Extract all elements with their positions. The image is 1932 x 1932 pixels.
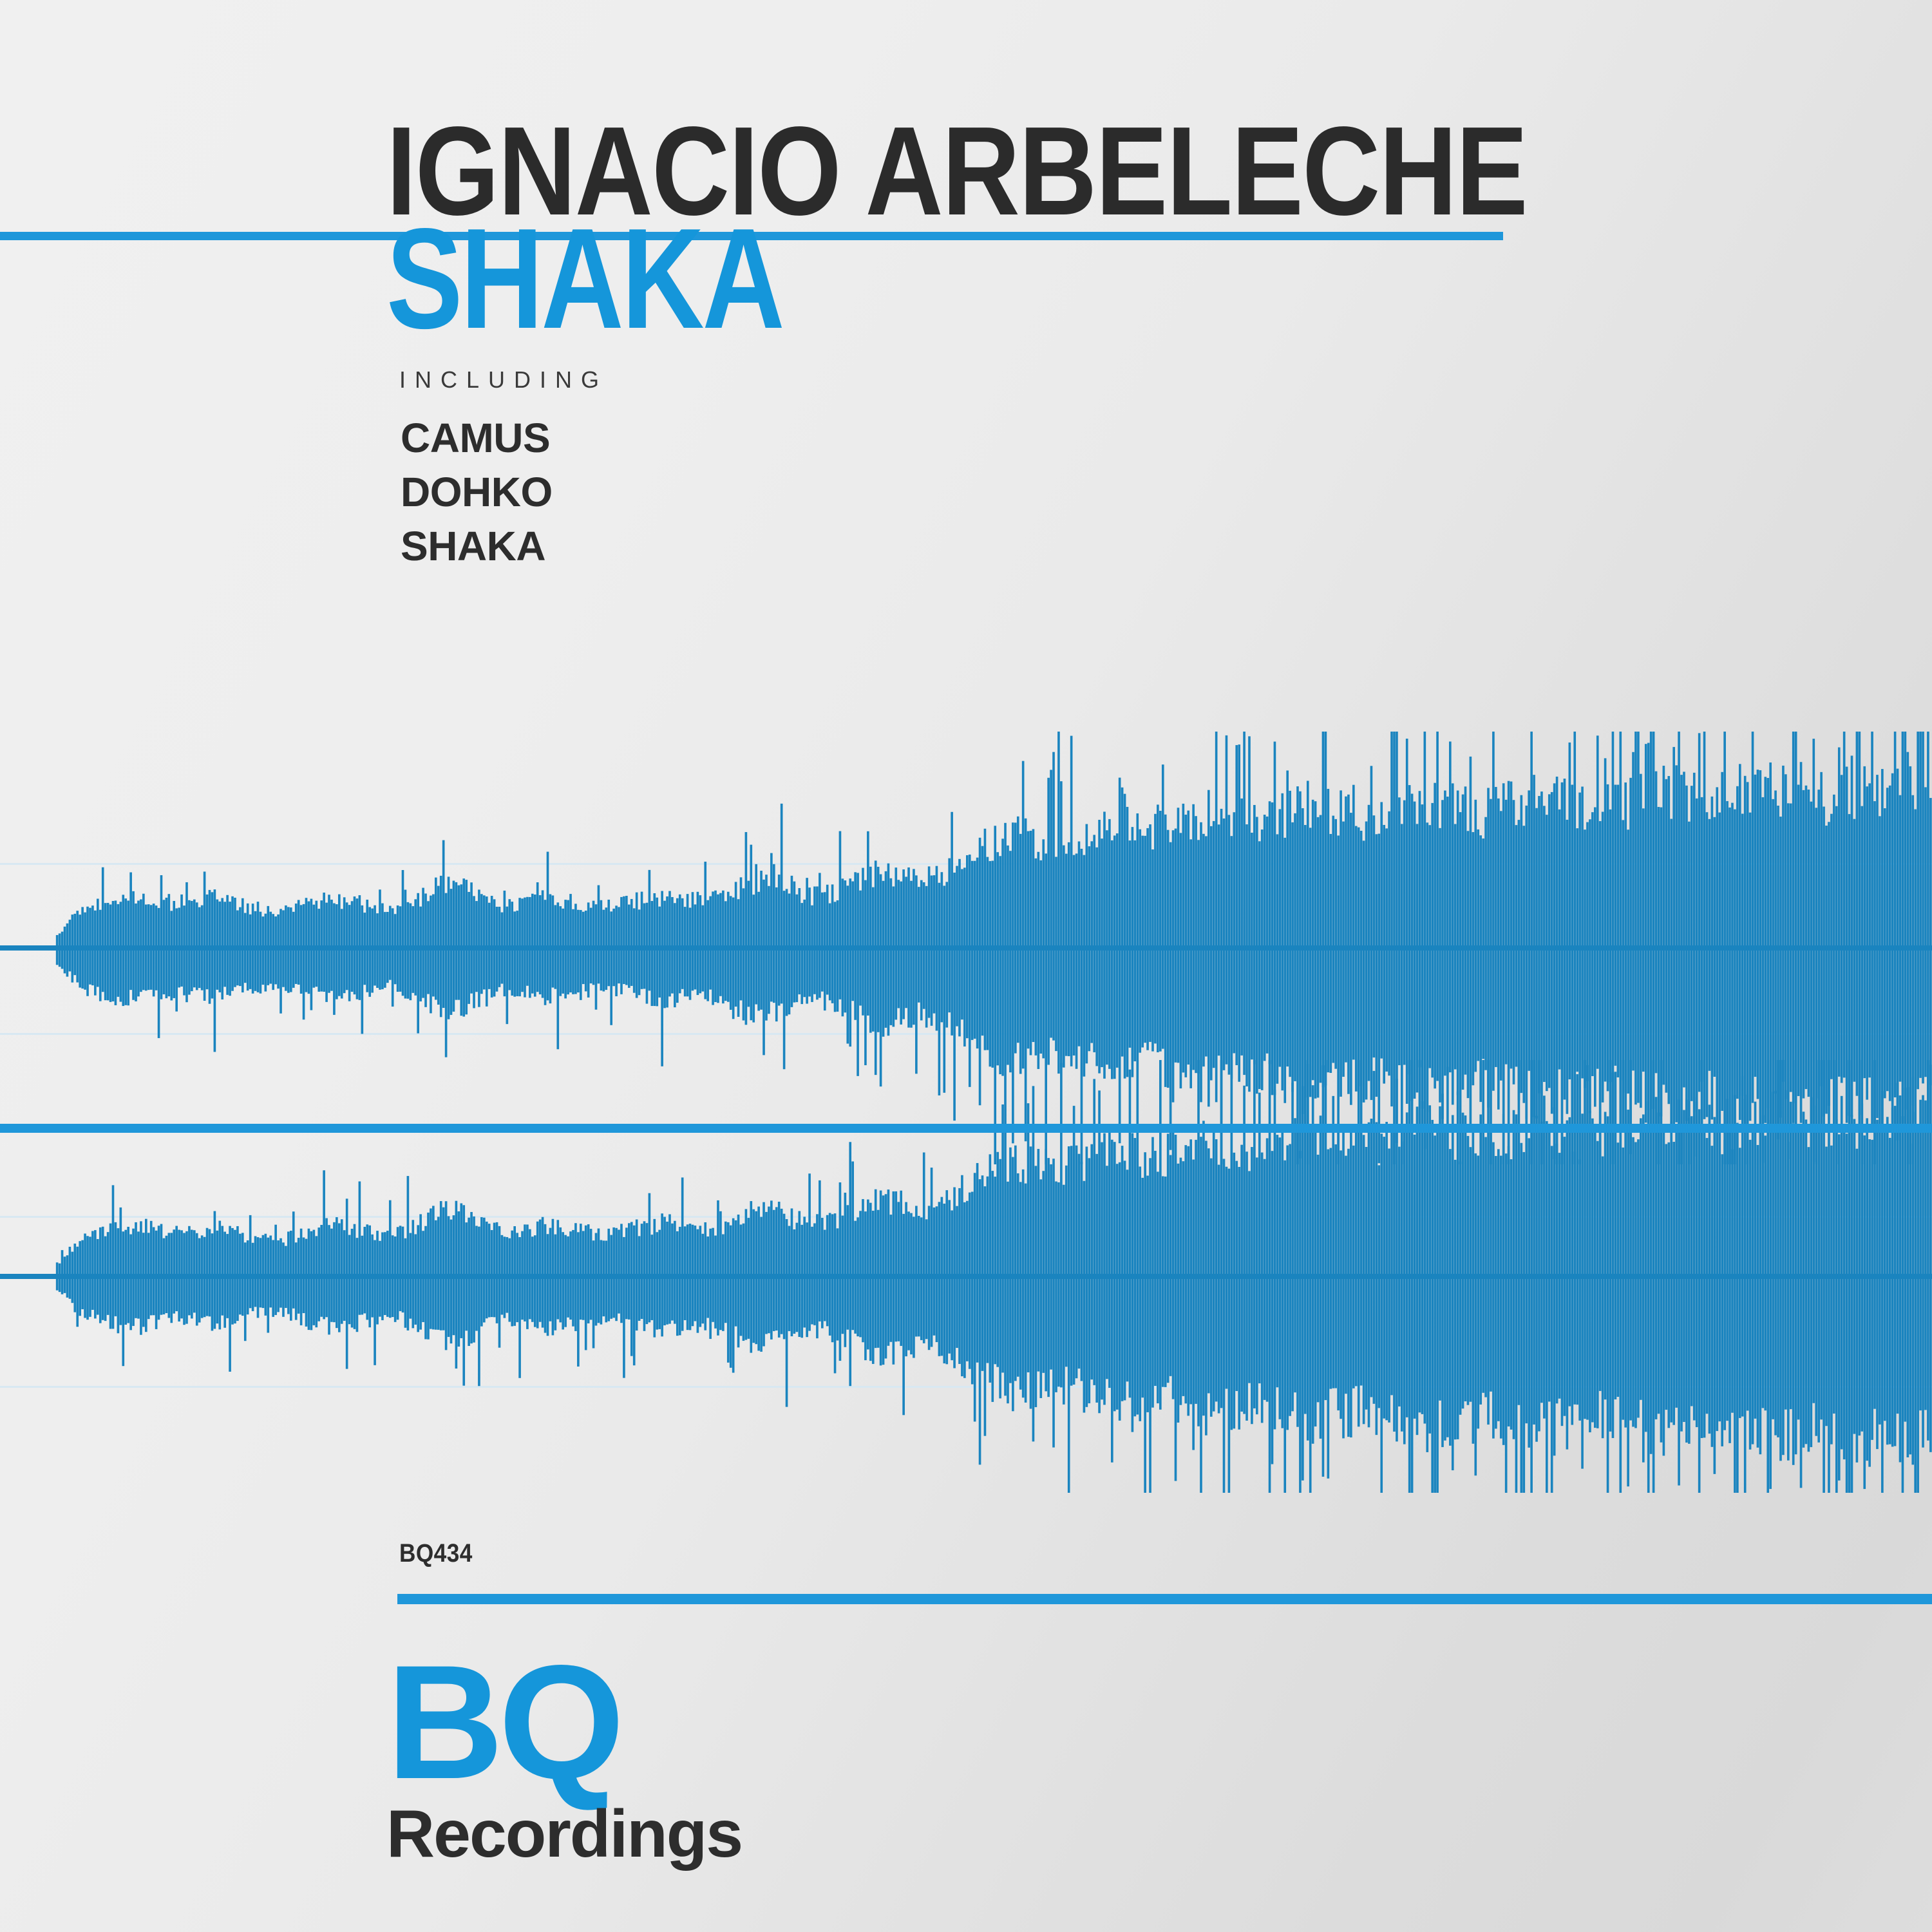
waveform-bar: [516, 911, 518, 996]
waveform-bar: [1218, 1165, 1220, 1414]
waveform-bar: [155, 1231, 158, 1329]
waveform-bar: [732, 1218, 735, 1373]
waveform-bar: [574, 904, 577, 994]
waveform-bar: [638, 1236, 641, 1321]
waveform-bar: [1604, 758, 1607, 1081]
waveform-bar: [511, 902, 513, 996]
waveform-bar: [1027, 1103, 1030, 1372]
waveform-bar: [374, 1240, 376, 1365]
waveform-bar: [1342, 1124, 1345, 1438]
waveform-bar: [153, 904, 155, 996]
waveform-bar: [1670, 819, 1672, 1127]
waveform-bar: [1929, 1065, 1932, 1452]
waveform-bar: [1154, 1151, 1157, 1386]
waveform-bar: [325, 903, 328, 1002]
waveform-bar: [895, 867, 897, 1019]
waveform-bar: [1866, 1118, 1868, 1461]
waveform-bar: [961, 869, 963, 1019]
waveform-bar: [996, 1152, 999, 1367]
waveform-bar: [928, 1206, 931, 1350]
waveform-bar: [1510, 1159, 1513, 1430]
waveform-bar: [86, 907, 89, 996]
waveform-bar: [260, 912, 262, 994]
waveform-bar: [1540, 1122, 1543, 1403]
waveform-bar: [265, 914, 267, 992]
waveform-bar: [1119, 1162, 1121, 1421]
waveform-bar: [1218, 824, 1220, 1056]
waveform-bar: [559, 1227, 562, 1322]
waveform-bar: [1513, 1110, 1515, 1439]
waveform-bar: [732, 898, 735, 1019]
waveform-bar: [363, 913, 366, 985]
waveform-bar: [374, 905, 376, 986]
waveform-bar: [1334, 819, 1337, 1069]
waveform-bar: [435, 1220, 437, 1330]
waveform-bar: [1378, 834, 1380, 1164]
waveform-bar: [368, 1226, 371, 1327]
waveform-bar: [1723, 1140, 1726, 1430]
waveform-bar: [69, 1247, 71, 1299]
waveform-bar: [191, 901, 193, 991]
waveform-bar: [480, 1217, 483, 1327]
waveform-bar: [1421, 1101, 1424, 1414]
waveform-bar: [603, 910, 605, 992]
waveform-bar: [1001, 838, 1004, 1075]
waveform-bar: [1154, 814, 1157, 1044]
waveform-bar: [844, 880, 847, 1012]
waveform-bar: [511, 1231, 513, 1327]
waveform-bar: [562, 909, 564, 994]
waveform-bar: [483, 1218, 486, 1323]
waveform-bar: [1444, 1127, 1446, 1441]
waveform-bar: [1403, 800, 1406, 1065]
waveform-bar: [529, 1229, 531, 1320]
waveform-bar: [129, 1235, 132, 1331]
waveform-bar: [1329, 1148, 1332, 1389]
waveform-bar: [419, 1214, 422, 1329]
waveform-bar: [1162, 764, 1164, 1048]
waveform-bar: [508, 1238, 511, 1322]
waveform-bar: [351, 1229, 354, 1327]
track-list: CAMUS DOHKO SHAKA: [401, 411, 553, 573]
waveform-bar: [564, 900, 567, 998]
bottom-rule-divider: [397, 1594, 1932, 1604]
waveform-bar: [567, 900, 569, 995]
waveform-bar: [948, 858, 951, 1012]
waveform-bar: [1873, 1060, 1876, 1409]
waveform-bar: [115, 1222, 117, 1316]
waveform-bar: [1833, 1060, 1835, 1414]
waveform-bar: [1810, 802, 1813, 1125]
waveform-bar: [1334, 1144, 1337, 1388]
waveform-bar: [104, 1236, 107, 1321]
waveform-bar: [328, 895, 330, 992]
waveform-bar: [1714, 1117, 1716, 1473]
waveform-bar: [1243, 1086, 1245, 1414]
waveform-bar: [1800, 762, 1803, 1122]
waveform-bar: [1522, 1152, 1525, 1493]
waveform-bar: [651, 901, 654, 1006]
waveform-bar: [679, 895, 681, 994]
waveform-bar: [842, 878, 844, 1016]
waveform-bar: [1785, 774, 1787, 1099]
waveform-bar: [1693, 773, 1696, 1112]
waveform-bar: [419, 907, 422, 1001]
waveform-bar: [1589, 1111, 1591, 1432]
waveform-bar: [979, 1179, 981, 1464]
catalog-number: BQ434: [399, 1540, 473, 1566]
waveform-bar: [1820, 1060, 1823, 1419]
waveform-bar: [1594, 1124, 1596, 1428]
waveform-bar: [1615, 785, 1617, 1066]
waveform-bar: [1441, 800, 1444, 1119]
waveform-bar: [895, 1191, 897, 1341]
waveform-bar: [806, 878, 808, 1003]
waveform-bar: [1723, 732, 1726, 1164]
waveform-bar: [69, 920, 71, 971]
waveform-bar: [1853, 819, 1856, 1082]
waveform-bar: [218, 1221, 221, 1330]
waveform-bar: [628, 905, 630, 988]
waveform-bar: [150, 905, 153, 990]
waveform-bar: [1032, 829, 1035, 1042]
waveform-bar: [1558, 810, 1561, 1070]
waveform-bar: [1650, 732, 1653, 1109]
waveform-bar: [646, 1223, 649, 1324]
waveform-bar: [943, 1204, 945, 1363]
waveform-bar: [907, 867, 910, 1028]
waveform-bar: [313, 905, 316, 988]
waveform-bar: [699, 895, 702, 993]
waveform-bar: [1462, 795, 1464, 1090]
waveform-bar: [191, 1230, 193, 1319]
waveform-bar: [600, 900, 603, 990]
waveform-bar: [1640, 774, 1642, 1108]
waveform-bar: [465, 880, 468, 1014]
waveform-bar: [97, 899, 99, 987]
waveform-bar: [1457, 1092, 1459, 1439]
waveform-bar: [448, 1216, 450, 1337]
waveform-bar: [1881, 769, 1884, 1124]
waveform-bar: [1596, 735, 1599, 1068]
waveform-bar: [1340, 1150, 1342, 1419]
waveform-bar: [724, 901, 727, 1001]
waveform-bar: [1022, 761, 1025, 1069]
waveform-bar: [663, 1217, 666, 1326]
waveform-bar: [1042, 839, 1045, 1058]
waveform-bar: [740, 1224, 743, 1336]
waveform-bar: [239, 1234, 241, 1315]
waveform-bar: [1522, 826, 1525, 1103]
waveform-bar: [414, 1234, 417, 1324]
waveform-bar: [1647, 743, 1650, 1110]
waveform-bar: [491, 896, 493, 998]
waveform-bar: [722, 891, 724, 1003]
waveform-bar: [1787, 803, 1790, 1159]
waveform-bar: [900, 882, 902, 1025]
waveform-bar: [422, 1231, 424, 1322]
waveform-bar: [107, 903, 109, 1000]
waveform-bar: [757, 1207, 760, 1351]
waveform-bar: [201, 905, 204, 990]
waveform-bar: [305, 898, 308, 992]
waveform-bar: [1782, 766, 1785, 1082]
waveform-bar: [1167, 1133, 1170, 1383]
waveform-bar: [549, 1228, 552, 1321]
waveform-bar: [361, 1236, 364, 1315]
waveform-bar: [722, 1235, 724, 1331]
waveform-bar: [223, 902, 226, 987]
waveform-bar: [132, 891, 135, 1000]
waveform-bar: [241, 898, 244, 992]
waveform-bar: [1907, 1087, 1909, 1457]
waveform-bar: [674, 1221, 676, 1324]
waveform-bar: [1101, 838, 1103, 1067]
waveform-bar: [135, 904, 137, 1001]
waveform-bar: [1414, 1135, 1416, 1419]
waveform-bar: [1345, 797, 1347, 1063]
waveform-bar: [885, 871, 887, 1028]
waveform-bar: [999, 1159, 1001, 1399]
waveform-bar: [872, 887, 875, 1032]
waveform-bar: [1830, 1146, 1833, 1444]
waveform-bar: [663, 901, 666, 1009]
waveform-bar: [145, 905, 147, 991]
waveform-bar: [1340, 790, 1342, 1097]
waveform-bar: [902, 1214, 905, 1415]
waveform-bar: [1914, 1112, 1917, 1493]
waveform-bar: [475, 1226, 478, 1331]
waveform-bar: [1358, 828, 1360, 1092]
waveform-bar: [737, 1215, 740, 1347]
waveform-bar: [1070, 736, 1073, 1066]
waveform-bar: [1861, 1103, 1863, 1431]
waveform-bar: [918, 1216, 920, 1336]
waveform-bar: [1825, 1147, 1828, 1426]
waveform-bar: [875, 860, 877, 1075]
waveform-bar: [1271, 802, 1274, 1095]
waveform-bar: [1264, 815, 1266, 1061]
waveform-bar: [336, 904, 338, 999]
waveform-bar: [851, 1161, 854, 1330]
waveform-bar: [166, 898, 168, 998]
waveform-bar: [1162, 1176, 1164, 1387]
waveform-bar: [854, 872, 857, 1019]
waveform-bar: [1296, 786, 1299, 1164]
waveform-bar: [470, 882, 473, 993]
waveform-bar: [633, 908, 636, 992]
waveform-bar: [743, 1224, 745, 1341]
waveform-bar: [384, 912, 386, 988]
waveform-bar: [1645, 1125, 1647, 1432]
waveform-bar: [1868, 783, 1871, 1077]
waveform-bar: [709, 1229, 712, 1339]
waveform-bar: [1116, 833, 1119, 1068]
waveform-bar: [605, 1241, 607, 1323]
waveform-bar: [931, 875, 933, 1025]
waveform-bar: [1124, 1160, 1126, 1400]
waveform-bar: [397, 1227, 399, 1320]
waveform-bar: [1604, 1112, 1607, 1399]
waveform-bar: [831, 1214, 834, 1342]
waveform-bar: [1701, 1060, 1703, 1438]
waveform-bar: [1680, 775, 1683, 1164]
waveform-bar: [127, 1227, 129, 1323]
waveform-bar: [1175, 1135, 1177, 1481]
waveform-bar: [1709, 1104, 1711, 1434]
waveform-bar: [518, 898, 521, 996]
waveform-bar: [160, 875, 163, 999]
waveform-bar: [824, 892, 826, 1010]
waveform-bar: [694, 1226, 697, 1321]
waveform-bar: [905, 876, 907, 1008]
waveform-bar: [1170, 842, 1172, 1150]
waveform-bar: [1012, 822, 1014, 1143]
waveform-bar: [1428, 1105, 1431, 1434]
waveform-bar: [412, 906, 414, 993]
waveform-bar: [1548, 794, 1551, 1088]
waveform-bar: [86, 1236, 89, 1320]
waveform-bar: [206, 1228, 209, 1316]
waveform-bar: [1838, 747, 1841, 1076]
waveform-bar: [513, 911, 516, 996]
waveform-bar: [1004, 823, 1007, 1079]
waveform-bar: [1111, 1140, 1113, 1463]
waveform-bar: [1039, 1179, 1042, 1398]
waveform-bar: [1126, 807, 1129, 1077]
waveform-bar: [1238, 744, 1240, 1082]
waveform-bar: [1037, 852, 1040, 1069]
waveform-bar: [356, 898, 359, 999]
waveform-bar: [1365, 822, 1368, 1100]
waveform-bar: [1141, 836, 1144, 1048]
waveform-bar: [1924, 1101, 1927, 1410]
waveform-bar: [862, 868, 864, 1016]
waveform-bar: [1439, 828, 1441, 1103]
waveform-bar: [1795, 732, 1797, 1103]
waveform-bar: [1769, 1120, 1772, 1489]
waveform-bar: [1380, 802, 1383, 1058]
waveform-bar: [1556, 1144, 1558, 1404]
waveform-bar: [905, 1202, 907, 1357]
waveform-bar: [389, 1200, 392, 1318]
waveform-bar: [1902, 1116, 1904, 1493]
waveform-bar: [1808, 1147, 1810, 1452]
waveform-bar: [1655, 1097, 1658, 1419]
waveform-bar: [1518, 1060, 1520, 1405]
waveform-bar: [1419, 791, 1421, 1067]
waveform-bar: [1546, 1121, 1548, 1493]
waveform-bar: [556, 1220, 559, 1319]
waveform-bar: [1551, 792, 1553, 1114]
waveform-bar: [298, 900, 300, 985]
waveform-bar: [279, 909, 282, 1013]
waveform-bar: [1904, 732, 1907, 1110]
waveform-bar: [1047, 1158, 1050, 1397]
waveform-bar: [486, 1222, 488, 1318]
waveform-bar: [1492, 732, 1495, 1091]
waveform-bar: [788, 1226, 791, 1331]
waveform-bar: [265, 1234, 267, 1316]
waveform-bar: [1924, 787, 1927, 1077]
waveform-bar: [552, 895, 554, 987]
waveform-bar: [201, 1235, 204, 1318]
waveform-bar: [1454, 1160, 1457, 1439]
waveform-bar: [915, 1206, 918, 1336]
waveform-bar: [1492, 1142, 1495, 1439]
waveform-bar: [1891, 773, 1894, 1122]
waveform-bar: [1144, 1152, 1146, 1493]
waveform-bar: [630, 899, 633, 986]
waveform-bar: [755, 1211, 757, 1344]
waveform-bar: [430, 896, 432, 1014]
waveform-bar: [1182, 1161, 1185, 1396]
waveform-bar: [1617, 785, 1620, 1077]
waveform-bar: [1805, 1119, 1808, 1444]
waveform-bar: [857, 1217, 859, 1336]
waveform-bar: [719, 893, 722, 996]
waveform-bar: [1627, 1110, 1629, 1486]
waveform-bar: [554, 905, 557, 989]
waveform-bar: [180, 895, 183, 987]
waveform-bar: [948, 1200, 951, 1353]
waveform-bar: [526, 1224, 529, 1329]
waveform-bar: [1911, 795, 1914, 1106]
waveform-bar: [819, 1180, 821, 1321]
waveform-bar: [1347, 795, 1350, 1094]
waveform-bar: [1782, 1060, 1785, 1455]
waveform-bar: [1180, 1158, 1182, 1405]
waveform-bar: [1081, 849, 1083, 1164]
waveform-bar: [1283, 1160, 1286, 1493]
waveform-bar: [1759, 1127, 1762, 1454]
waveform-bar: [1385, 828, 1388, 1072]
waveform-bar: [706, 900, 709, 1001]
waveform-bar: [762, 1202, 765, 1347]
waveform-bar: [1683, 1110, 1685, 1422]
waveform-bar: [1734, 1095, 1736, 1493]
waveform-bar: [1019, 1182, 1022, 1389]
waveform-bar: [1322, 732, 1325, 1087]
waveform-bar: [1538, 1060, 1540, 1432]
waveform-bar: [313, 1230, 316, 1325]
waveform-bar: [1309, 1130, 1312, 1493]
waveform-bar: [1482, 838, 1484, 1059]
waveform-bar: [638, 909, 641, 995]
waveform-bar: [1747, 1095, 1749, 1411]
waveform-bar: [188, 1226, 191, 1316]
waveform-bar: [129, 873, 132, 990]
waveform-bar: [412, 1220, 414, 1328]
waveform-bar: [1245, 824, 1248, 1086]
waveform-bar: [410, 1233, 412, 1319]
waveform-bar: [328, 1225, 330, 1334]
waveform-bar: [1256, 1157, 1258, 1414]
waveform-bar: [671, 897, 674, 994]
waveform-bar: [1434, 1135, 1436, 1493]
waveform-bar: [1396, 1079, 1398, 1441]
waveform-bar: [999, 856, 1001, 1074]
waveform-bar: [887, 1189, 890, 1346]
waveform-bar: [150, 1221, 153, 1316]
waveform-bar: [1846, 1133, 1848, 1493]
waveform-bar: [712, 891, 714, 1005]
waveform-bar: [1637, 732, 1640, 1103]
waveform-bar: [1749, 813, 1752, 1121]
waveform-bar: [61, 932, 64, 969]
waveform-bar: [298, 1238, 300, 1314]
waveform-bar: [1459, 1162, 1462, 1415]
